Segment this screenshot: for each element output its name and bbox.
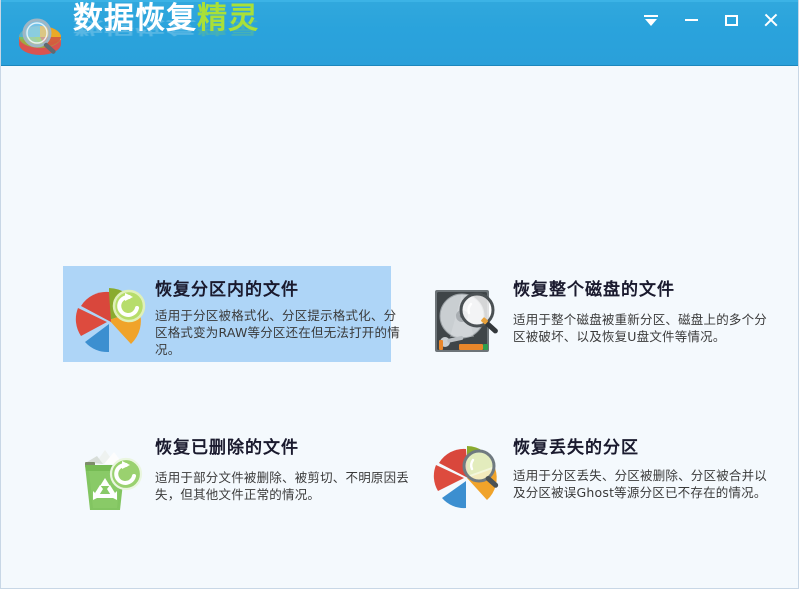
app-title-reflection-part-b: 精灵 xyxy=(197,17,259,36)
card-title: 恢复分区内的文件 xyxy=(155,280,401,300)
menu-button[interactable] xyxy=(640,10,662,30)
app-title-reflection: 数据恢复精灵 xyxy=(73,19,259,36)
card-title: 恢复已删除的文件 xyxy=(155,438,411,458)
card-description: 适用于分区丢失、分区被删除、分区被合并以及分区被误Ghost等源分区已不存在的情… xyxy=(513,468,771,502)
maximize-icon xyxy=(725,15,738,26)
card-title: 恢复整个磁盘的文件 xyxy=(513,280,771,300)
minimize-icon xyxy=(685,19,698,21)
app-title-reflection-part-a: 数据恢复 xyxy=(73,17,197,36)
brand-title-wrap: 数据恢复精灵 数据恢复精灵 xyxy=(73,4,259,65)
card-recover-lost-partition[interactable]: 恢复丢失的分区 适用于分区丢失、分区被删除、分区被合并以及分区被误Ghost等源… xyxy=(421,424,766,534)
close-icon xyxy=(764,13,778,27)
card-title: 恢复丢失的分区 xyxy=(513,438,771,458)
recycle-bin-refresh-icon xyxy=(73,438,149,518)
window-controls xyxy=(640,10,782,30)
card-recover-partition-files[interactable]: 恢复分区内的文件 适用于分区被格式化、分区提示格式化、分区格式变为RAW等分区还… xyxy=(63,266,391,362)
card-body: 恢复丢失的分区 适用于分区丢失、分区被删除、分区被合并以及分区被误Ghost等源… xyxy=(507,434,771,502)
pie-chart-magnifier-logo-icon xyxy=(13,11,69,59)
close-button[interactable] xyxy=(760,10,782,30)
application-window: 数据恢复精灵 数据恢复精灵 xyxy=(0,0,799,589)
brand: 数据恢复精灵 数据恢复精灵 xyxy=(13,4,259,65)
title-bar: 数据恢复精灵 数据恢复精灵 xyxy=(1,0,798,66)
menu-arrow-icon xyxy=(644,14,658,26)
maximize-button[interactable] xyxy=(720,10,742,30)
pie-chart-refresh-icon xyxy=(73,280,149,360)
card-description: 适用于部分文件被删除、被剪切、不明原因丢失，但其他文件正常的情况。 xyxy=(155,470,411,504)
card-body: 恢复分区内的文件 适用于分区被格式化、分区提示格式化、分区格式变为RAW等分区还… xyxy=(149,276,401,359)
pie-chart-magnifier-icon xyxy=(431,438,507,518)
card-recover-deleted-files[interactable]: 恢复已删除的文件 适用于部分文件被删除、被剪切、不明原因丢失，但其他文件正常的情… xyxy=(63,424,393,520)
main-content: 恢复分区内的文件 适用于分区被格式化、分区提示格式化、分区格式变为RAW等分区还… xyxy=(1,66,798,587)
card-body: 恢复整个磁盘的文件 适用于整个磁盘被重新分区、磁盘上的多个分区被破坏、以及恢复U… xyxy=(507,278,771,346)
card-body: 恢复已删除的文件 适用于部分文件被删除、被剪切、不明原因丢失，但其他文件正常的情… xyxy=(149,434,411,504)
card-description: 适用于分区被格式化、分区提示格式化、分区格式变为RAW等分区还在但无法打开的情况… xyxy=(155,308,401,359)
minimize-button[interactable] xyxy=(680,10,702,30)
hard-disk-magnifier-icon xyxy=(431,282,507,362)
card-description: 适用于整个磁盘被重新分区、磁盘上的多个分区被破坏、以及恢复U盘文件等情况。 xyxy=(513,312,771,346)
card-recover-whole-disk[interactable]: 恢复整个磁盘的文件 适用于整个磁盘被重新分区、磁盘上的多个分区被破坏、以及恢复U… xyxy=(421,268,761,364)
